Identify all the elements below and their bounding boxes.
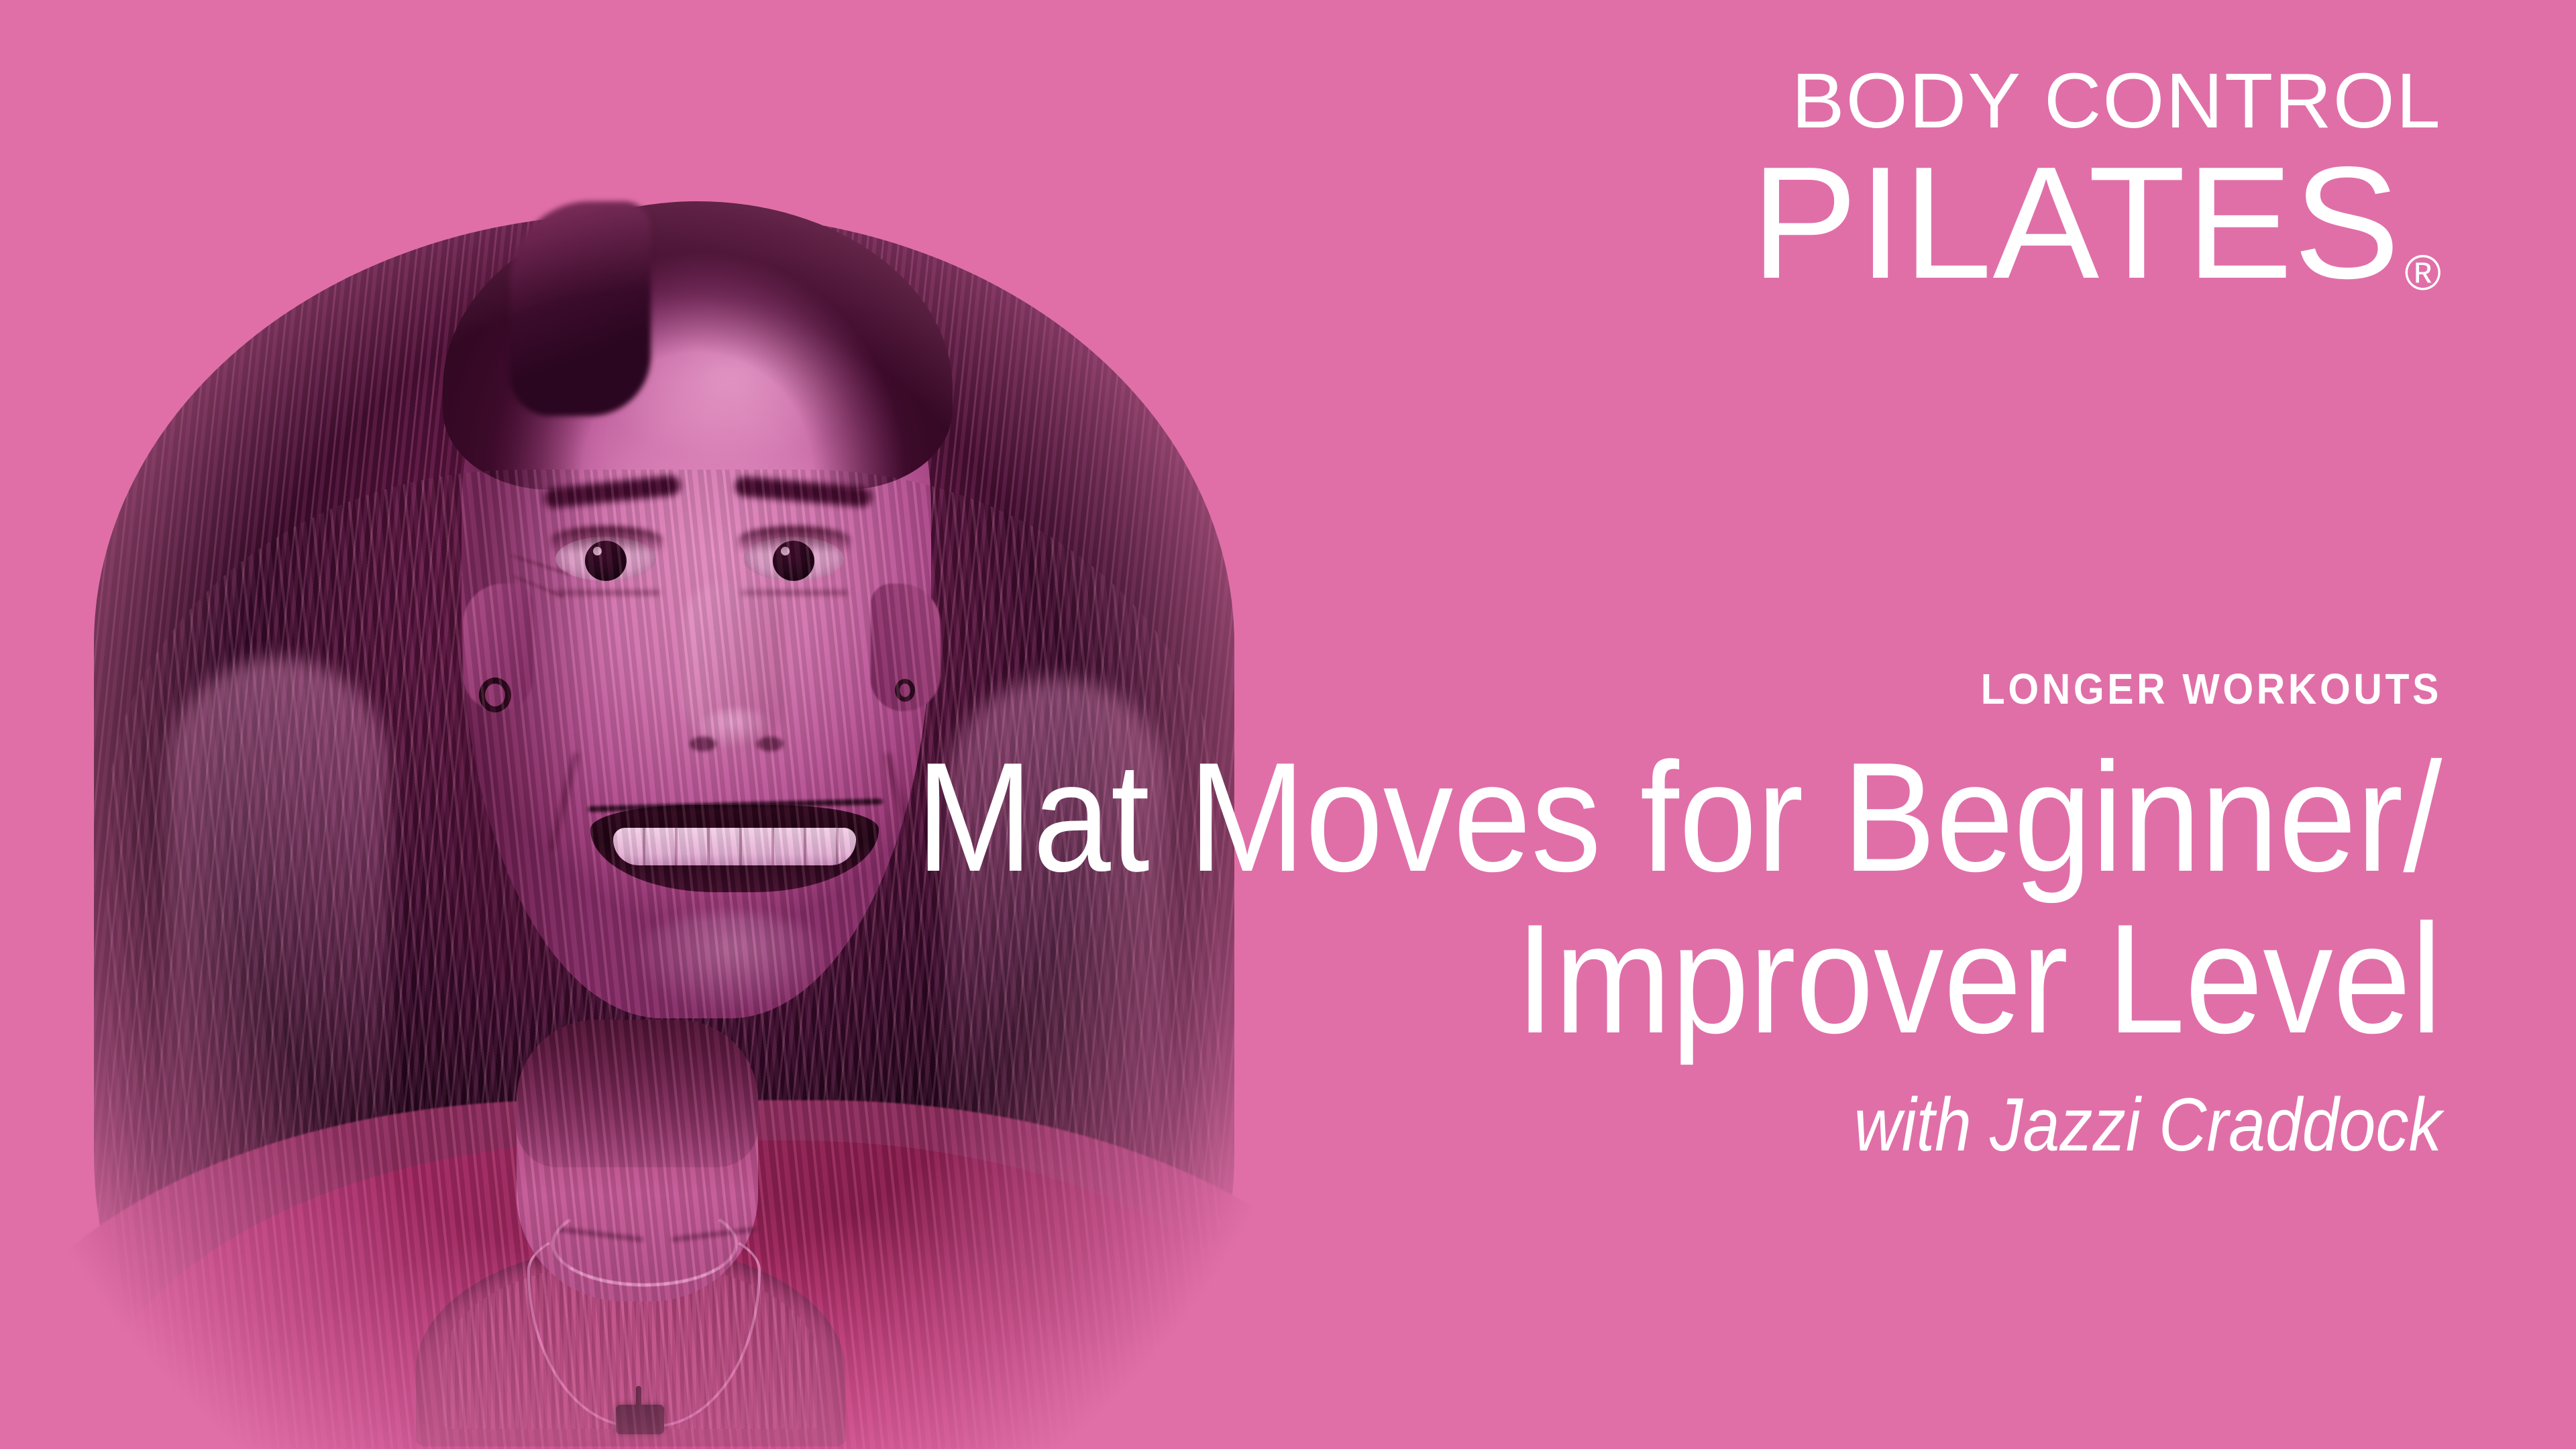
presenter-portrait-photo: [0, 0, 1476, 1449]
workout-title-line-1: Mat Moves for Beginner/: [916, 737, 2442, 898]
hair-part: [510, 201, 651, 416]
brand-logo-wordmark: PILATES: [1751, 144, 2400, 303]
category-label: LONGER WORKOUTS: [1981, 664, 2442, 714]
workout-title: Mat Moves for Beginner/ Improver Level: [916, 737, 2442, 1061]
workout-title-line-2: Improver Level: [916, 898, 2442, 1060]
hair-highlight-left: [168, 657, 389, 1449]
video-thumbnail-card: BODY CONTROL PILATES® LONGER WORKOUTS Ma…: [0, 0, 2576, 1449]
brand-logo: BODY CONTROL PILATES®: [1751, 62, 2442, 303]
presenter-credit: with Jazzi Craddock: [1854, 1081, 2442, 1168]
registered-trademark-icon: ®: [2404, 248, 2442, 298]
brand-logo-line-2: PILATES®: [1751, 144, 2442, 303]
brand-logo-line-1: BODY CONTROL: [1737, 62, 2442, 140]
